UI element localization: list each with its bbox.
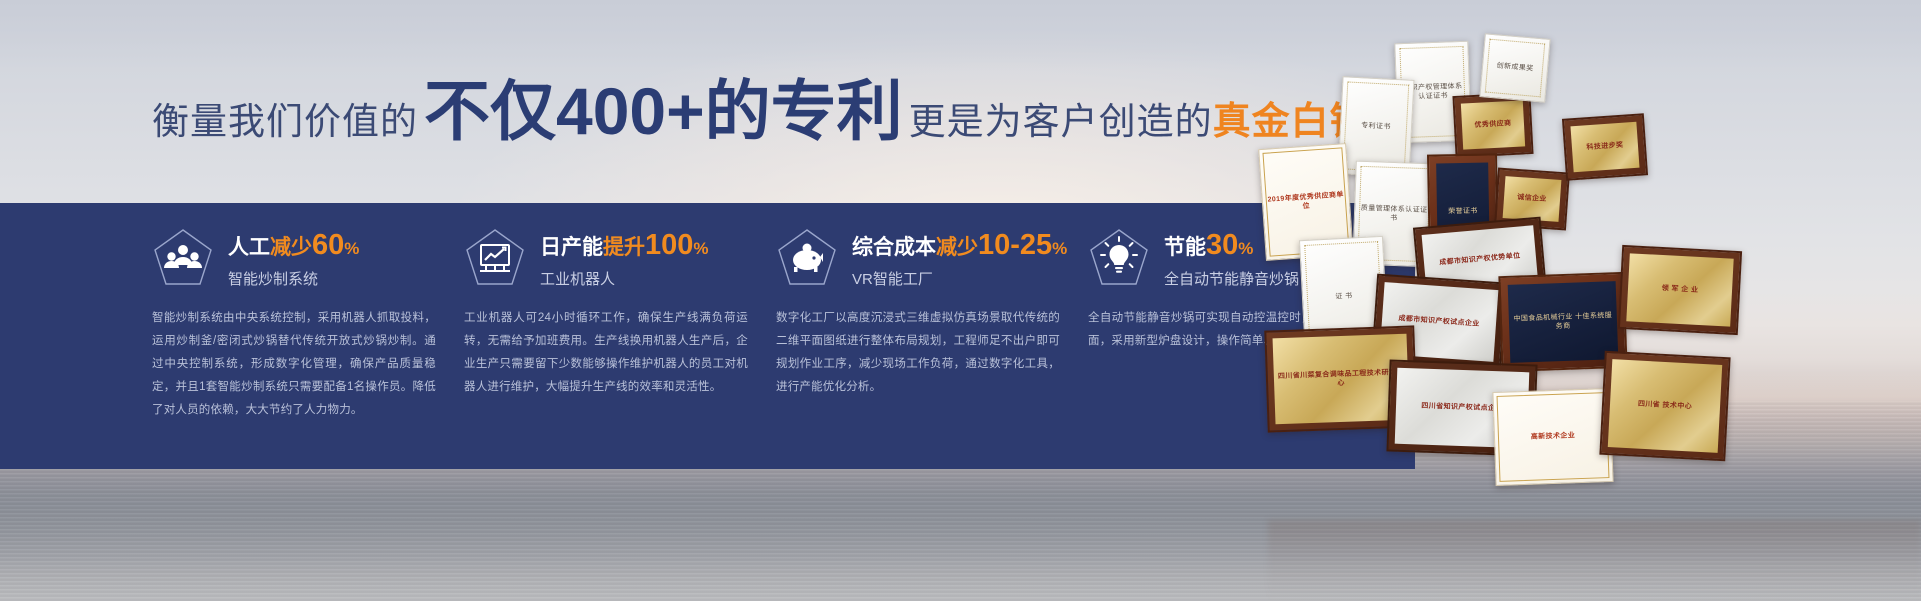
feature-subtitle: VR智能工厂 bbox=[852, 268, 1067, 289]
feature-title: 日产能提升100% bbox=[540, 229, 709, 262]
feature-panel: 人工减少60% 智能炒制系统 智能炒制系统由中央系统控制，采用机器人抓取投料，运… bbox=[0, 203, 1415, 469]
feature-title-accent: 提升 bbox=[603, 236, 645, 259]
promo-banner: 衡量我们价值的 不仅400+的专利 更是为客户创造的 真金白银的效益 bbox=[0, 0, 1921, 601]
feature-header: 日产能提升100% 工业机器人 bbox=[464, 227, 748, 289]
feature-title-label: 综合成本 bbox=[852, 236, 936, 259]
headline-emphasis: 不仅400+的专利 bbox=[418, 78, 909, 144]
headline-lead: 衡量我们价值的 bbox=[152, 91, 418, 145]
feature-title-label: 日产能 bbox=[540, 236, 603, 259]
certificate-item: 四川省 技术中心 bbox=[1599, 351, 1730, 461]
certificate-item: 创新成果奖 bbox=[1479, 33, 1550, 103]
piggy-bank-icon bbox=[776, 227, 838, 289]
feature-header: 人工减少60% 智能炒制系统 bbox=[152, 227, 436, 289]
feature-title: 人工减少60% bbox=[228, 229, 359, 262]
feature-titles: 日产能提升100% 工业机器人 bbox=[540, 227, 709, 288]
feature-item-cost: 综合成本减少10-25% VR智能工厂 数字化工厂以高度沉浸式三维虚拟仿真场景取… bbox=[776, 227, 1088, 422]
feature-title: 综合成本减少10-25% bbox=[852, 229, 1067, 262]
certificate-item: 优秀供应商 bbox=[1452, 92, 1533, 158]
feature-title-label: 人工 bbox=[228, 236, 270, 259]
feature-body: 数字化工厂以高度沉浸式三维虚拟仿真场景取代传统的二维平面图纸进行整体布局规划，工… bbox=[776, 307, 1060, 399]
feature-subtitle: 智能炒制系统 bbox=[228, 268, 359, 289]
certificate-item: 领 军 企 业 bbox=[1618, 245, 1742, 335]
feature-title-accent: 减少 bbox=[936, 236, 978, 259]
feature-body: 智能炒制系统由中央系统控制，采用机器人抓取投料，运用炒制釜/密闭式炒锅替代传统开… bbox=[152, 307, 436, 422]
feature-title-number: 60 bbox=[312, 229, 344, 261]
headline-middle: 更是为客户创造的 bbox=[909, 91, 1213, 145]
feature-titles: 人工减少60% 智能炒制系统 bbox=[228, 227, 359, 288]
feature-body: 工业机器人可24小时循环工作，确保生产线满负荷运转，无需给予加班费用。生产线换用… bbox=[464, 307, 748, 399]
feature-title-unit: % bbox=[1052, 239, 1067, 258]
feature-title-number: 100 bbox=[645, 229, 693, 261]
feature-title-unit: % bbox=[344, 239, 359, 258]
feature-title-accent: 减少 bbox=[270, 236, 312, 259]
feature-title-label: 节能 bbox=[1164, 236, 1206, 259]
people-group-icon bbox=[152, 227, 214, 289]
feature-title-number: 30 bbox=[1206, 229, 1238, 261]
feature-subtitle: 工业机器人 bbox=[540, 268, 709, 289]
feature-titles: 综合成本减少10-25% VR智能工厂 bbox=[852, 227, 1067, 288]
chart-easel-icon bbox=[464, 227, 526, 289]
feature-title-unit: % bbox=[693, 239, 708, 258]
awards-pile: 知识产权管理体系认证证书 专利证书 优秀供应商 2019年度优秀供应商单位 质量… bbox=[1268, 42, 1921, 562]
feature-item-capacity: 日产能提升100% 工业机器人 工业机器人可24小时循环工作，确保生产线满负荷运… bbox=[464, 227, 776, 422]
certificate-item: 高新技术企业 bbox=[1492, 388, 1613, 486]
feature-header: 综合成本减少10-25% VR智能工厂 bbox=[776, 227, 1060, 289]
feature-title-number: 10-25 bbox=[978, 229, 1052, 261]
feature-title-unit: % bbox=[1238, 239, 1253, 258]
lightbulb-icon bbox=[1088, 227, 1150, 289]
feature-list: 人工减少60% 智能炒制系统 智能炒制系统由中央系统控制，采用机器人抓取投料，运… bbox=[152, 227, 1400, 422]
feature-item-labor: 人工减少60% 智能炒制系统 智能炒制系统由中央系统控制，采用机器人抓取投料，运… bbox=[152, 227, 464, 422]
certificate-item: 科技进步奖 bbox=[1562, 113, 1648, 181]
